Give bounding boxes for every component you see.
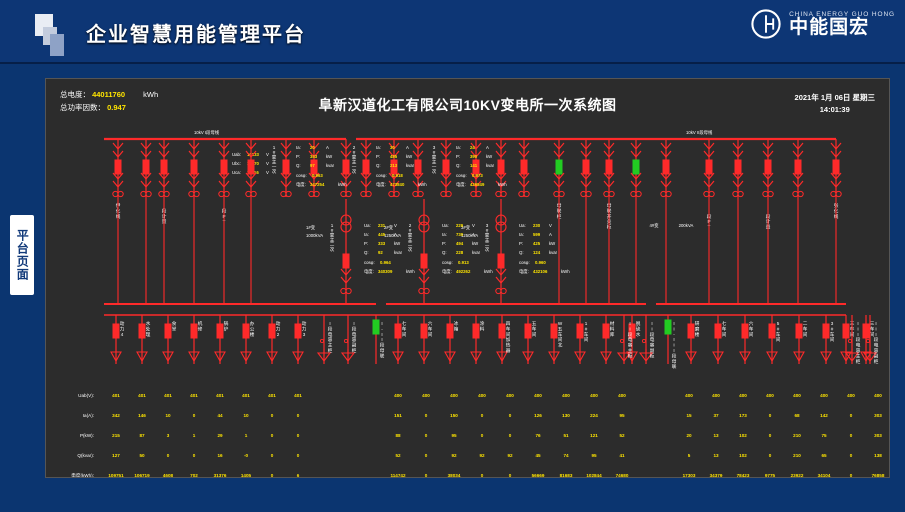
hv-1-value-2: 213	[390, 163, 398, 168]
table-cell-g1-r4-c2: 38034	[448, 473, 461, 478]
breaker-icon	[363, 160, 369, 174]
svg-text:I: I	[381, 337, 382, 342]
table-cell-g0-r2-c6: 0	[271, 433, 274, 438]
table-cell-g2-r0-c6: 400	[847, 393, 855, 398]
svg-text:主: 主	[328, 342, 333, 348]
disconnect-icon	[620, 339, 623, 342]
breaker-icon	[395, 324, 401, 338]
table-cell-g0-r2-c1: 87	[139, 433, 145, 438]
table-cell-g2-r2-c6: 0	[850, 433, 853, 438]
table-cell-g0-r2-c2: 3	[167, 433, 170, 438]
svg-text:I: I	[857, 321, 858, 326]
svg-text:堂: 堂	[172, 325, 177, 331]
table-row-label-1: Ia(A):	[83, 413, 94, 418]
svg-text:七: 七	[402, 320, 407, 326]
breaker-icon	[243, 324, 249, 338]
table-row-label-0: Uab(V):	[78, 393, 94, 398]
table-cell-g2-r0-c1: 400	[712, 393, 720, 398]
table-cell-g1-r0-c7: 400	[590, 393, 598, 398]
table-cell-g1-r2-c3: 0	[481, 433, 484, 438]
lv-feeder-columns: 动力4水处理食堂机修锅炉办公楼动力2动力3I段电容主柜I段电容副柜I-II段母联…	[111, 315, 879, 370]
cap-right-0: III段电容主柜	[856, 321, 861, 365]
breaker-closed-icon	[633, 160, 639, 174]
hv-cell-name-1: 2#变主一次	[352, 145, 357, 175]
table-cell-g2-r1-c6: 0	[850, 413, 853, 418]
feeder-mid-7: 1#车间	[584, 321, 589, 343]
cap-mid-1: II段电容副柜	[650, 321, 655, 359]
table-cell-g0-r2-c3: 1	[193, 433, 196, 438]
lv-0-energy-unit: kWh	[406, 269, 415, 274]
lv-1-value-0: 229	[456, 223, 464, 228]
lv-2-energy-value: 432106	[533, 269, 548, 274]
breaker-icon	[343, 160, 349, 174]
hv-2-value-2: 141	[470, 163, 478, 168]
table-cell-g2-r3-c4: 210	[793, 453, 801, 458]
svg-text:#: #	[831, 326, 834, 331]
svg-text:间: 间	[749, 331, 754, 338]
hv-2-value-1: 390	[470, 154, 478, 159]
table-cell-g1-r3-c0: 52	[395, 453, 401, 458]
table-cell-g2-r0-c0: 400	[685, 393, 693, 398]
breaker-icon	[295, 324, 301, 338]
lv-bus-section	[104, 304, 846, 315]
svg-text:I: I	[353, 321, 354, 326]
table-cell-g2-r4-c6: 0	[850, 473, 853, 478]
svg-text:电: 电	[874, 342, 879, 348]
breaker-icon	[421, 254, 427, 268]
feeder-left-3: 机修	[198, 320, 203, 332]
svg-text:柜: 柜	[856, 358, 861, 365]
hv-2-cos-value: 0.973	[472, 173, 483, 178]
breaker-closed-icon	[373, 320, 379, 334]
table-cell-g1-r0-c5: 400	[534, 393, 542, 398]
breaker-icon	[343, 254, 349, 268]
feeder-left-0: 动力4	[120, 320, 125, 337]
table-cell-g2-r3-c1: 13	[713, 453, 719, 458]
brand-chinese-name: 中能国宏	[789, 18, 895, 38]
svg-text:4: 4	[121, 332, 124, 337]
breaker-icon	[606, 160, 612, 174]
feeder-mid-9: 脱硫水	[636, 320, 641, 337]
svg-text:水: 水	[636, 331, 641, 337]
bus-label-left: 10kV I段母线	[194, 129, 220, 136]
table-cell-g0-r1-c0: 342	[112, 413, 120, 418]
diagram-canvas: 10kV I段母线 10kV II段母线 Uab: 10133 V Ubc: 1…	[46, 79, 890, 478]
svg-text:I: I	[629, 326, 630, 331]
svg-text:电: 电	[628, 336, 633, 342]
table-cell-g0-r2-c4: 29	[217, 433, 223, 438]
transformer-tag-1: 200kVA	[679, 223, 694, 228]
svg-text:涂: 涂	[480, 320, 485, 326]
lv-2-value-1: 599	[533, 232, 541, 237]
hv-cell-name-0: 1#变主一次	[272, 145, 277, 175]
table-cell-g1-r4-c5: 56669	[532, 473, 545, 478]
uca-label: Uca:	[232, 170, 241, 175]
hv-0-cos-label: cosφ:	[296, 173, 307, 178]
breaker-icon	[521, 160, 527, 174]
breaker-icon	[248, 160, 254, 174]
lv-0-value-3: 92	[378, 250, 383, 255]
lv-tag-1: 2#变	[384, 224, 394, 231]
table-cell-g0-r4-c4: 31376	[214, 473, 227, 478]
breaker-icon	[217, 324, 223, 338]
lv-1-label-2: P:	[442, 241, 446, 246]
hv-2-unit-2: kvar	[486, 163, 495, 168]
breaker-icon	[735, 160, 741, 174]
feeder-left-5: 办公楼	[250, 320, 255, 338]
hv-1-label-1: P:	[376, 154, 380, 159]
table-cell-g1-r1-c3: 0	[481, 413, 484, 418]
svg-text:主: 主	[856, 352, 861, 358]
table-cell-g0-r0-c7: 401	[294, 393, 302, 398]
breaker-icon	[706, 160, 712, 174]
svg-text:3: 3	[303, 332, 306, 337]
breaker-icon	[473, 324, 479, 338]
breaker-icon	[165, 324, 171, 338]
table-cell-g2-r1-c2: 173	[739, 413, 747, 418]
feeder-left-7: 动力3	[302, 320, 307, 337]
lv-1-value-3: 228	[456, 250, 464, 255]
lv-1-value-1: 730	[456, 232, 464, 237]
svg-text:I: I	[875, 332, 876, 337]
lv-1-unit-2: kW	[472, 241, 479, 246]
table-cell-g0-r1-c1: 146	[138, 413, 146, 418]
feeder-right-4: 二车间	[803, 321, 808, 338]
svg-text:电: 电	[352, 331, 357, 337]
feeder-mid-6: W五车间北	[558, 321, 563, 349]
table-cell-g0-r3-c7: 0	[297, 453, 300, 458]
table-cell-g1-r1-c0: 151	[394, 413, 402, 418]
cap-left-0: I段电容主柜	[328, 321, 333, 354]
table-cell-g1-r4-c4: 0	[509, 473, 512, 478]
lv-0-label-3: Q:	[364, 250, 369, 255]
svg-text:电: 电	[856, 342, 861, 348]
hv-1-unit-0: A	[406, 145, 409, 150]
table-cell-g2-r1-c4: 68	[794, 413, 800, 418]
feeder-mid-8: 材料库	[610, 320, 615, 338]
svg-text:联: 联	[672, 363, 677, 370]
table-cell-g2-r1-c3: 0	[769, 413, 772, 418]
svg-text:间: 间	[776, 336, 781, 343]
feeder-right-2: 六车间	[749, 320, 754, 338]
hv-2-label-2: Q:	[456, 163, 461, 168]
table-cell-g0-r4-c2: 4608	[163, 473, 174, 478]
table-cell-g1-r4-c6: 81683	[560, 473, 573, 478]
svg-text:七: 七	[722, 320, 727, 326]
lv-1-label-3: Q:	[442, 250, 447, 255]
svg-text:电: 电	[650, 336, 655, 342]
table-cell-g1-r2-c7: 121	[590, 433, 598, 438]
hv-0-value-0: 20	[310, 145, 315, 150]
svg-text:间: 间	[803, 331, 808, 338]
table-cell-g1-r2-c5: 76	[535, 433, 541, 438]
svg-text:箱: 箱	[454, 325, 459, 332]
svg-text:间: 间	[830, 336, 835, 343]
feeder-mid-0: 七车间	[402, 320, 407, 338]
hv-2-unit-0: A	[486, 145, 489, 150]
feeder-right-1: 七车间	[722, 320, 727, 338]
breaker-icon	[843, 324, 849, 338]
table-cell-g2-r2-c7: 303	[874, 433, 882, 438]
app-header: 企业智慧用能管理平台 CHINA ENERGY GUO HONG 中能国宏	[0, 0, 905, 64]
svg-text:次: 次	[432, 168, 437, 175]
lv-2-unit-3: kvar	[549, 250, 558, 255]
table-cell-g1-r0-c4: 400	[506, 393, 514, 398]
hv-2-label-1: P:	[456, 154, 460, 159]
breaker-icon	[283, 160, 289, 174]
lv-cell-measurements: 1#变主二次Ua:231VIa:445AP:333kWQ:92kvarcosφ:…	[330, 223, 571, 275]
lv-1-label-0: Ua:	[442, 223, 449, 228]
breaker-icon	[443, 160, 449, 174]
svg-text:二: 二	[803, 321, 808, 326]
svg-text:间: 间	[722, 331, 727, 338]
feeder-right-3: 5#车间	[776, 321, 781, 343]
hv-0-value-2: 97	[310, 163, 315, 168]
hv-2-value-0: 24	[470, 145, 475, 150]
table-cell-g2-r2-c5: 75	[821, 433, 827, 438]
hv-0-cos-value: 0.963	[312, 173, 323, 178]
svg-text:I: I	[673, 337, 674, 342]
hv-1-energy-label: 电度:	[376, 181, 386, 188]
svg-text:料: 料	[480, 325, 485, 332]
svg-text:2: 2	[277, 332, 280, 337]
table-cell-g1-r2-c4: 0	[509, 433, 512, 438]
ubc-label: Ubc:	[232, 161, 241, 166]
svg-text:-: -	[381, 326, 383, 331]
table-cell-g1-r3-c7: 95	[591, 453, 597, 458]
breaker-icon	[161, 160, 167, 174]
hv-0-energy-label: 电度:	[296, 181, 306, 188]
svg-text:北: 北	[558, 342, 563, 349]
feeder-right-0: 研磨楼	[695, 321, 700, 338]
hv-0-energy-unit: kWh	[338, 182, 347, 187]
breaker-icon	[795, 160, 801, 174]
svg-text:修: 修	[198, 325, 203, 332]
table-cell-g0-r2-c5: 1	[245, 433, 248, 438]
breaker-icon	[115, 160, 121, 174]
lv-2-unit-2: kW	[549, 241, 556, 246]
breaker-icon	[583, 160, 589, 174]
measurement-table: Uab(V):Ia(A):P(kW):Q(kvar):电度(kWh):40140…	[71, 393, 885, 478]
table-cell-g2-r3-c5: 65	[821, 453, 827, 458]
lv-1-unit-3: kvar	[472, 250, 481, 255]
feeder-right-5: 3#车间	[830, 321, 835, 343]
hv-2-label-0: Ia:	[456, 145, 461, 150]
svg-text:理: 理	[146, 332, 151, 337]
svg-text:库: 库	[610, 331, 615, 338]
hv-0-label-2: Q:	[296, 163, 301, 168]
svg-text:I: I	[673, 326, 674, 331]
breaker-closed-icon	[665, 320, 671, 334]
breaker-icon	[823, 324, 829, 338]
breaker-icon	[447, 324, 453, 338]
lv-2-value-2: 425	[533, 241, 541, 246]
table-cell-g1-r1-c7: 224	[590, 413, 598, 418]
table-cell-g2-r3-c0: 5	[688, 453, 691, 458]
lv-0-energy-value: 340309	[378, 269, 393, 274]
lv-1-cos-label: cosφ:	[442, 260, 453, 265]
table-cell-g2-r3-c2: 102	[739, 453, 747, 458]
breaker-icon	[742, 324, 748, 338]
table-cell-g0-r1-c6: 0	[271, 413, 274, 418]
svg-text:主: 主	[628, 347, 633, 353]
bus-tie-1: I-II段母联	[380, 321, 385, 359]
lv-0-label-1: Ia:	[364, 232, 369, 237]
lv-1-energy-value: 492262	[456, 269, 471, 274]
hv-1-unit-1: kW	[406, 154, 413, 159]
svg-text:柜: 柜	[352, 347, 357, 354]
svg-text:楼: 楼	[250, 331, 255, 338]
lv-0-cos-label: cosφ:	[364, 260, 375, 265]
lv-0-label-0: Ua:	[364, 223, 371, 228]
breaker-icon	[863, 324, 869, 338]
svg-text:次: 次	[408, 246, 413, 253]
table-cell-g2-r2-c3: 0	[769, 433, 772, 438]
hv-feeder-stacks	[113, 139, 841, 197]
lv-kva-1: 1250kVA	[384, 233, 401, 238]
table-cell-g0-r4-c1: 106719	[134, 473, 150, 478]
table-cell-g1-r2-c0: 88	[395, 433, 401, 438]
table-cell-g1-r4-c1: 0	[425, 473, 428, 478]
hv-0-unit-2: kvar	[326, 163, 335, 168]
lv-2-cos-value: 0.960	[535, 260, 546, 265]
breaker-icon	[113, 324, 119, 338]
svg-text:I: I	[629, 321, 630, 326]
hv-0-label-1: P:	[296, 154, 300, 159]
hv-0-energy-value: 347254	[310, 182, 325, 187]
table-cell-g2-r4-c4: 23922	[791, 473, 804, 478]
svg-text:I: I	[857, 332, 858, 337]
svg-text:炉: 炉	[224, 325, 229, 332]
hv-1-energy-unit: kWh	[418, 182, 427, 187]
table-cell-g2-r4-c1: 34379	[710, 473, 723, 478]
table-cell-g0-r3-c0: 127	[112, 453, 120, 458]
table-cell-g1-r0-c3: 400	[478, 393, 486, 398]
table-cell-g0-r0-c2: 401	[164, 393, 172, 398]
lv-2-label-3: Q:	[519, 250, 524, 255]
table-cell-g2-r2-c0: 20	[686, 433, 692, 438]
hv-1-value-1: 485	[390, 154, 398, 159]
svg-text:间: 间	[532, 331, 537, 338]
svg-text:1: 1	[585, 321, 588, 326]
svg-text:次: 次	[485, 246, 490, 253]
lv-2-label-1: Ia:	[519, 232, 524, 237]
breaker-closed-icon	[556, 160, 562, 174]
table-cell-g2-r2-c2: 102	[739, 433, 747, 438]
lv-2-value-3: 124	[533, 250, 541, 255]
table-cell-g0-r0-c0: 401	[112, 393, 120, 398]
table-cell-g0-r1-c2: 10	[165, 413, 171, 418]
svg-text:柜: 柜	[650, 352, 655, 359]
feeder-left-6: 动力2	[276, 320, 281, 337]
feeder-left-1: 水处理	[146, 320, 151, 337]
breaker-icon	[421, 324, 427, 338]
uca-unit: V	[266, 170, 269, 175]
svg-text:I: I	[857, 326, 858, 331]
table-cell-g2-r2-c1: 13	[713, 433, 719, 438]
hv-1-label-2: Q:	[376, 163, 381, 168]
svg-text:I: I	[875, 321, 876, 326]
breaker-icon	[191, 160, 197, 174]
lv-tag-0: 1#变	[306, 224, 316, 231]
transformer-tag-0: 4#变	[649, 222, 659, 229]
table-cell-g2-r0-c3: 400	[766, 393, 774, 398]
svg-text:-: -	[673, 332, 675, 337]
app-logo-icon	[35, 14, 71, 54]
svg-text:I: I	[329, 321, 330, 326]
feeder-mid-1: 六车间	[428, 320, 433, 338]
breaker-icon	[525, 324, 531, 338]
svg-text:间: 间	[584, 336, 589, 343]
lv-1-unit-1: A	[472, 232, 475, 237]
hv-2-cos-label: cosφ:	[456, 173, 467, 178]
table-cell-g1-r2-c8: 52	[619, 433, 625, 438]
breaker-icon	[139, 324, 145, 338]
breaker-icon	[663, 160, 669, 174]
lv-1-label-1: Ia:	[442, 232, 447, 237]
table-cell-g1-r4-c0: 114742	[390, 473, 406, 478]
table-row-label-3: Q(kvar):	[77, 453, 94, 458]
table-cell-g0-r3-c2: 0	[167, 453, 170, 458]
svg-text:3: 3	[831, 321, 834, 326]
lv-2-unit-1: A	[549, 232, 552, 237]
hv-2-energy-label: 电度:	[456, 181, 466, 188]
lv-0-label-2: P:	[364, 241, 368, 246]
lv-2-label-2: P:	[519, 241, 523, 246]
svg-text:水: 水	[146, 320, 151, 326]
breaker-icon	[715, 324, 721, 338]
company-logo-icon	[750, 8, 782, 40]
hv-1-value-0: 30	[390, 145, 395, 150]
table-cell-g2-r0-c7: 400	[874, 393, 882, 398]
table-cell-g0-r0-c5: 401	[242, 393, 250, 398]
table-cell-g0-r1-c5: 10	[243, 413, 249, 418]
feeder-mid-4: 四车间加热器	[506, 321, 511, 354]
table-cell-g0-r0-c1: 401	[138, 393, 146, 398]
company-brand: CHINA ENERGY GUO HONG 中能国宏	[750, 2, 895, 46]
table-cell-g1-r0-c8: 400	[618, 393, 626, 398]
ubc-unit: V	[266, 161, 269, 166]
feeder-mid-5: 五车间	[532, 321, 537, 338]
table-cell-g0-r1-c3: 0	[193, 413, 196, 418]
lv-cell-name-0: 1#变主二次	[330, 223, 335, 253]
table-cell-g2-r3-c6: 0	[850, 453, 853, 458]
table-cell-g2-r1-c1: 37	[713, 413, 719, 418]
table-cell-g2-r0-c4: 400	[793, 393, 801, 398]
hv-1-cos-value: 0.918	[392, 173, 403, 178]
sidebar-item-platform-page[interactable]: 平台页面	[10, 215, 34, 295]
bus-label-right: 10kV II段母线	[686, 129, 713, 136]
page-title: 企业智慧用能管理平台	[86, 18, 306, 47]
svg-text:I: I	[875, 326, 876, 331]
table-cell-g1-r1-c6: 130	[562, 413, 570, 418]
app-root: 企业智慧用能管理平台 CHINA ENERGY GUO HONG 中能国宏 平台…	[0, 0, 905, 512]
svg-text:五: 五	[558, 326, 563, 331]
table-cell-g1-r0-c6: 400	[562, 393, 570, 398]
table-cell-g2-r1-c5: 142	[820, 413, 828, 418]
breaker-icon	[191, 324, 197, 338]
hv-1-energy-value: 473840	[390, 182, 405, 187]
breaker-icon	[833, 160, 839, 174]
feeder-left-2: 食堂	[172, 320, 177, 331]
breaker-icon	[688, 324, 694, 338]
lv-2-value-0: 230	[533, 223, 541, 228]
svg-text:五: 五	[532, 321, 537, 326]
hv-bus-section: 10kV I段母线 10kV II段母线	[104, 129, 836, 139]
svg-text:联: 联	[380, 352, 385, 359]
table-cell-g1-r1-c2: 150	[450, 413, 458, 418]
hv-1-unit-2: kvar	[406, 163, 415, 168]
